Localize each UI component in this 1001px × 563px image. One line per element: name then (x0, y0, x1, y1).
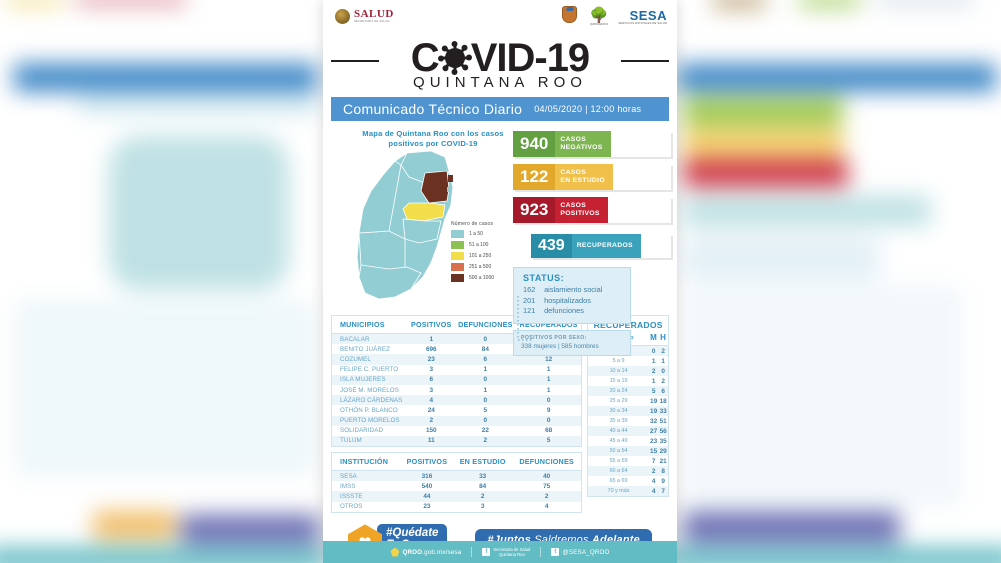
cell-h: 0 (658, 366, 668, 376)
bg-band-map-teal2 (16, 301, 315, 476)
stat-value: 923 (513, 197, 555, 223)
bg-band-amber (6, 0, 64, 6)
cell-m: 2 (649, 366, 658, 376)
cell-defunciones: 0 (455, 416, 516, 426)
status-label: hospitalizados (544, 296, 591, 305)
cell-grupo: 50 a 54 (588, 446, 649, 456)
cell-recuperados: 9 (516, 405, 582, 415)
table-row: ISSSTE4422 (332, 491, 582, 501)
cell-recuperados: 0 (516, 395, 582, 405)
col-institucion: INSTITUCIÓN (332, 453, 401, 471)
table-row: LÁZARO CÁRDENAS400 (332, 395, 582, 405)
page-subtitle: QUINTANA ROO (323, 74, 677, 91)
legend-item: 51 a 100 (451, 241, 494, 249)
table-row: ISLA MUJERES601 (332, 375, 582, 385)
bg-band-status (683, 237, 879, 280)
legend-label: 101 a 250 (469, 253, 491, 259)
legend-item: 1 a 50 (451, 230, 494, 238)
sexo-value: 338 mujeres | 585 hombres (521, 343, 624, 350)
bg-band-bottom-teal (0, 548, 327, 563)
cell-grupo: 40 a 44 (588, 426, 649, 436)
bg-band-footer (665, 548, 1001, 563)
cell-grupo: 35 a 39 (588, 416, 649, 426)
cell-positivos: 1 (408, 334, 455, 345)
stat-casos-en-estudio: 122 CASOS EN ESTUDIO (513, 164, 671, 190)
footer-twitter-text: @SESA_QROO (562, 549, 609, 556)
legend-item: 101 a 250 (451, 252, 494, 260)
sexo-title: POSITIVOS POR SEXO: (521, 335, 624, 341)
table-row: 60 a 6428 (588, 466, 669, 476)
legend-swatch-icon (451, 241, 464, 249)
comunicado-banner: Comunicado Técnico Diario 04/05/2020 | 1… (331, 97, 669, 121)
quedate-line1: #Quédate (386, 527, 438, 539)
cell-municipio: PUERTO MORELOS (332, 416, 408, 426)
rule-right (621, 60, 669, 62)
twitter-icon: t (551, 548, 559, 556)
mexico-seal-icon (335, 9, 350, 24)
cell-positivos: 23 (408, 354, 455, 364)
cell-grupo: 25 a 29 (588, 396, 649, 406)
cell-grupo: 5 a 9 (588, 356, 649, 366)
rule-left (331, 60, 379, 62)
cell-h: 7 (658, 486, 668, 497)
right-logo-group: 🌳 QUINTANA ROO SESA SERVICIOS ESTATALES … (560, 6, 667, 27)
cell-grupo: 55 a 59 (588, 456, 649, 466)
cell-positivos: 4 (408, 395, 455, 405)
cell-municipio: BENITO JUÁREZ (332, 344, 408, 354)
cell-m: 7 (649, 456, 658, 466)
legend-label: 251 a 500 (469, 264, 491, 270)
status-label: defunciones (544, 306, 584, 315)
stats-panel: 940 CASOS NEGATIVOS 122 CASOS EN ESTUDIO… (513, 131, 671, 356)
virus-icon (440, 43, 470, 73)
map-and-stats-section: Mapa de Quintana Roo con los casos posit… (323, 121, 677, 313)
cell-h: 21 (658, 456, 668, 466)
cell-h: 1 (658, 356, 668, 366)
bg-band-lightcyan (78, 95, 318, 114)
fb-line2: Quintana Roo (499, 552, 525, 557)
cell-municipio: SOLIDARIDAD (332, 426, 408, 436)
cell-m: 5 (649, 386, 658, 396)
bg-band-map-teal (109, 136, 289, 290)
stat-label: CASOS POSITIVOS (555, 197, 607, 223)
instituciones-table: INSTITUCIÓN POSITIVOS EN ESTUDIO DEFUNCI… (331, 452, 582, 513)
legend-label: 500 a 1000 (469, 275, 494, 281)
sesa-logo: SESA SERVICIOS ESTATALES DE SALUD (618, 9, 667, 25)
cell-defunciones: 2 (455, 436, 516, 447)
legend-title: Número de casos (451, 221, 494, 227)
cell-m: 2 (649, 466, 658, 476)
cell-h: 56 (658, 426, 668, 436)
table-row: 5 a 911 (588, 356, 669, 366)
bg-band-red2 (683, 159, 848, 186)
table-row: 15 a 1912 (588, 376, 669, 386)
cell-h: 18 (658, 396, 668, 406)
cell-positivos: 540 (401, 481, 454, 491)
tree-logo: 🌳 QUINTANA ROO (588, 8, 609, 26)
bg-band-purple (683, 512, 899, 543)
cell-municipio: TULUM (332, 436, 408, 447)
cell-positivos: 6 (408, 375, 455, 385)
table-row: 35 a 393251 (588, 416, 669, 426)
footer-site-text: QROO.gob.mx/sesa (402, 549, 461, 556)
cell-grupo: 70 y más (588, 486, 649, 497)
cell-institucion: SESA (332, 471, 401, 482)
cell-recuperados: 68 (516, 426, 582, 436)
cell-recuperados: 12 (516, 354, 582, 364)
tree-icon: 🌳 (588, 8, 609, 23)
footer-facebook[interactable]: f Secretaría de Salud Quintana Roo (482, 547, 530, 557)
col-positivos: POSITIVOS (408, 316, 455, 334)
stat-value: 940 (513, 131, 555, 157)
location-pin-icon (390, 548, 399, 557)
bg-band-bottom-yellow (93, 512, 175, 539)
table-row: 50 a 541529 (588, 446, 669, 456)
cell-positivos: 11 (408, 436, 455, 447)
legend-swatch-icon (451, 252, 464, 260)
col-en-estudio: EN ESTUDIO (453, 453, 512, 471)
covid-title-block: C VID-19 QUINTANA ROO (323, 36, 677, 91)
salud-title: SALUD (354, 9, 394, 20)
cell-positivos: 150 (408, 426, 455, 436)
map-legend: Número de casos 1 a 50 51 a 100 101 a 25… (451, 221, 494, 285)
stat-casos-negativos: 940 CASOS NEGATIVOS (513, 131, 671, 157)
logo-header-row: SALUD SECRETARÍA DE SALUD 🌳 QUINTANA ROO… (323, 0, 677, 34)
cell-positivos: 696 (408, 344, 455, 354)
cell-defunciones: 6 (455, 354, 516, 364)
dotted-connector-icon (515, 296, 535, 346)
stat-recuperados: 439 RECUPERADOS (531, 234, 671, 258)
bg-band-blue-wide (677, 64, 996, 92)
cell-h: 35 (658, 436, 668, 446)
cell-m: 27 (649, 426, 658, 436)
sesa-subtitle: SERVICIOS ESTATALES DE SALUD (618, 22, 667, 25)
footer-divider (471, 547, 472, 557)
footer-website[interactable]: QROO.gob.mx/sesa (390, 548, 461, 557)
map-heading: Mapa de Quintana Roo con los casos posit… (353, 129, 513, 149)
table-row: 55 a 59721 (588, 456, 669, 466)
cell-m: 4 (649, 486, 658, 497)
cell-defunciones: 2 (512, 491, 582, 501)
cell-recuperados: 5 (516, 436, 582, 447)
legend-label: 51 a 100 (469, 242, 488, 248)
cell-defunciones: 0 (455, 334, 516, 345)
cell-defunciones: 84 (455, 344, 516, 354)
legend-item: 500 a 1000 (451, 274, 494, 282)
table-row: COZUMEL23612 (332, 354, 582, 364)
cell-institucion: ISSSTE (332, 491, 401, 501)
status-label: aislamiento social (544, 285, 602, 294)
table-row: 70 y más47 (588, 486, 669, 497)
bg-band-brown-top-right (712, 0, 766, 8)
cell-municipio: BACALAR (332, 334, 408, 345)
col-municipios: MUNICIPIOS (332, 316, 408, 334)
bg-band-teal (683, 195, 930, 226)
bg-band-yellow (683, 129, 843, 158)
cell-positivos: 3 (408, 385, 455, 395)
cell-grupo: 60 a 64 (588, 466, 649, 476)
cell-h: 2 (658, 376, 668, 386)
stat-value: 439 (531, 234, 572, 258)
table-row: 45 a 492335 (588, 436, 669, 446)
cell-defunciones: 1 (455, 385, 516, 395)
cell-positivos: 23 (401, 502, 454, 513)
cell-recuperados: 1 (516, 385, 582, 395)
table-row: IMSS5408475 (332, 481, 582, 491)
footer-site-bold: QROO (402, 549, 422, 556)
cell-m: 4 (649, 476, 658, 486)
tree-caption: QUINTANA ROO (588, 23, 609, 26)
cell-en-estudio: 2 (453, 491, 512, 501)
footer-bar: QROO.gob.mx/sesa f Secretaría de Salud Q… (323, 541, 677, 563)
col-defunciones: DEFUNCIONES (455, 316, 516, 334)
cell-municipio: JOSÉ M. MORELOS (332, 385, 408, 395)
stat-casos-positivos: 923 CASOS POSITIVOS (513, 197, 671, 223)
salud-subtitle: SECRETARÍA DE SALUD (354, 21, 394, 24)
cell-defunciones: 40 (512, 471, 582, 482)
bg-band-red (76, 0, 187, 5)
col-defunciones: DEFUNCIONES (512, 453, 582, 471)
legend-item: 251 a 500 (451, 263, 494, 271)
cell-h: 8 (658, 466, 668, 476)
status-row: 201 hospitalizados (523, 296, 623, 307)
cell-recuperados: 1 (516, 375, 582, 385)
table-header-row: INSTITUCIÓN POSITIVOS EN ESTUDIO DEFUNCI… (332, 453, 582, 471)
legend-swatch-icon (451, 230, 464, 238)
cell-defunciones: 1 (455, 365, 516, 375)
cell-grupo: 20 a 24 (588, 386, 649, 396)
comunicado-date: 04/05/2020 | 12:00 horas (534, 104, 641, 114)
table-row: OTROS2334 (332, 502, 582, 513)
bg-band-grey-top-right (876, 0, 974, 5)
stat-label: CASOS NEGATIVOS (555, 131, 610, 157)
cell-h: 33 (658, 406, 668, 416)
footer-divider (540, 547, 541, 557)
footer-twitter[interactable]: t @SESA_QROO (551, 548, 609, 556)
table-row: SESA3163340 (332, 471, 582, 482)
cell-h: 9 (658, 476, 668, 486)
stat-label: RECUPERADOS (572, 234, 641, 258)
status-value: 162 (523, 285, 542, 296)
cell-m: 19 (649, 406, 658, 416)
table-row: 65 a 6949 (588, 476, 669, 486)
cell-en-estudio: 84 (453, 481, 512, 491)
cell-positivos: 3 (408, 365, 455, 375)
cell-h: 29 (658, 446, 668, 456)
cell-municipio: LÁZARO CÁRDENAS (332, 395, 408, 405)
cell-grupo: 15 a 19 (588, 376, 649, 386)
cell-defunciones: 0 (455, 375, 516, 385)
table-row: OTHÓN P. BLANCO2459 (332, 405, 582, 415)
legend-label: 1 a 50 (469, 231, 483, 237)
table-row: 20 a 2456 (588, 386, 669, 396)
cell-defunciones: 22 (455, 426, 516, 436)
bg-band-green (683, 98, 843, 126)
bg-band-bottom-blue (181, 515, 320, 544)
table-row: 10 a 1420 (588, 366, 669, 376)
cell-h: 51 (658, 416, 668, 426)
cell-m: 19 (649, 396, 658, 406)
cell-grupo: 45 a 49 (588, 436, 649, 446)
bg-band-green-top-right (799, 0, 861, 7)
cell-grupo: 10 a 14 (588, 366, 649, 376)
comunicado-title: Comunicado Técnico Diario (343, 101, 522, 117)
table-row: TULUM1125 (332, 436, 582, 447)
table-row: 30 a 341933 (588, 406, 669, 416)
status-title: STATUS: (523, 273, 623, 283)
table-row: 40 a 442756 (588, 426, 669, 436)
cell-positivos: 2 (408, 416, 455, 426)
quintana-roo-map (349, 147, 467, 307)
table-row: JOSÉ M. MORELOS311 (332, 385, 582, 395)
cell-recuperados: 1 (516, 365, 582, 375)
facebook-icon: f (482, 548, 490, 556)
salud-logo: SALUD SECRETARÍA DE SALUD (335, 9, 394, 24)
cell-defunciones: 5 (455, 405, 516, 415)
status-row: 162 aislamiento social (523, 285, 623, 296)
cell-h: 6 (658, 386, 668, 396)
cell-municipio: ISLA MUJERES (332, 375, 408, 385)
col-positivos: POSITIVOS (401, 453, 454, 471)
table-row: FELIPE C. PUERTO311 (332, 365, 582, 375)
cell-defunciones: 0 (455, 395, 516, 405)
cell-m: 23 (649, 436, 658, 446)
cell-defunciones: 75 (512, 481, 582, 491)
cell-grupo: 65 a 69 (588, 476, 649, 486)
covid-report-infographic: SALUD SECRETARÍA DE SALUD 🌳 QUINTANA ROO… (323, 0, 677, 563)
cell-m: 15 (649, 446, 658, 456)
cell-institucion: OTROS (332, 502, 401, 513)
cell-positivos: 316 (401, 471, 454, 482)
cell-m: 32 (649, 416, 658, 426)
status-row: 121 defunciones (523, 306, 623, 317)
cell-institucion: IMSS (332, 481, 401, 491)
quintana-roo-seal-icon (560, 6, 579, 27)
cell-positivos: 24 (408, 405, 455, 415)
footer-site-rest: .gob.mx/sesa (422, 549, 461, 556)
table-row: PUERTO MORELOS200 (332, 416, 582, 426)
bg-band-blue-wide (14, 64, 318, 92)
stat-value: 122 (513, 164, 555, 190)
table-row: SOLIDARIDAD1502268 (332, 426, 582, 436)
cell-municipio: OTHÓN P. BLANCO (332, 405, 408, 415)
cell-grupo: 30 a 34 (588, 406, 649, 416)
stat-label: CASOS EN ESTUDIO (555, 164, 613, 190)
cell-m: 1 (649, 356, 658, 366)
cell-positivos: 44 (401, 491, 454, 501)
legend-swatch-icon (451, 263, 464, 271)
cell-municipio: FELIPE C. PUERTO (332, 365, 408, 375)
footer-facebook-text: Secretaría de Salud Quintana Roo (493, 547, 530, 557)
cell-en-estudio: 33 (453, 471, 512, 482)
sesa-wordmark: SESA (618, 9, 667, 22)
cell-en-estudio: 3 (453, 502, 512, 513)
cell-m: 1 (649, 376, 658, 386)
bg-band-table (683, 285, 961, 506)
cell-defunciones: 4 (512, 502, 582, 513)
cell-recuperados: 0 (516, 416, 582, 426)
table-row: 25 a 291918 (588, 396, 669, 406)
legend-swatch-icon (451, 274, 464, 282)
cell-municipio: COZUMEL (332, 354, 408, 364)
